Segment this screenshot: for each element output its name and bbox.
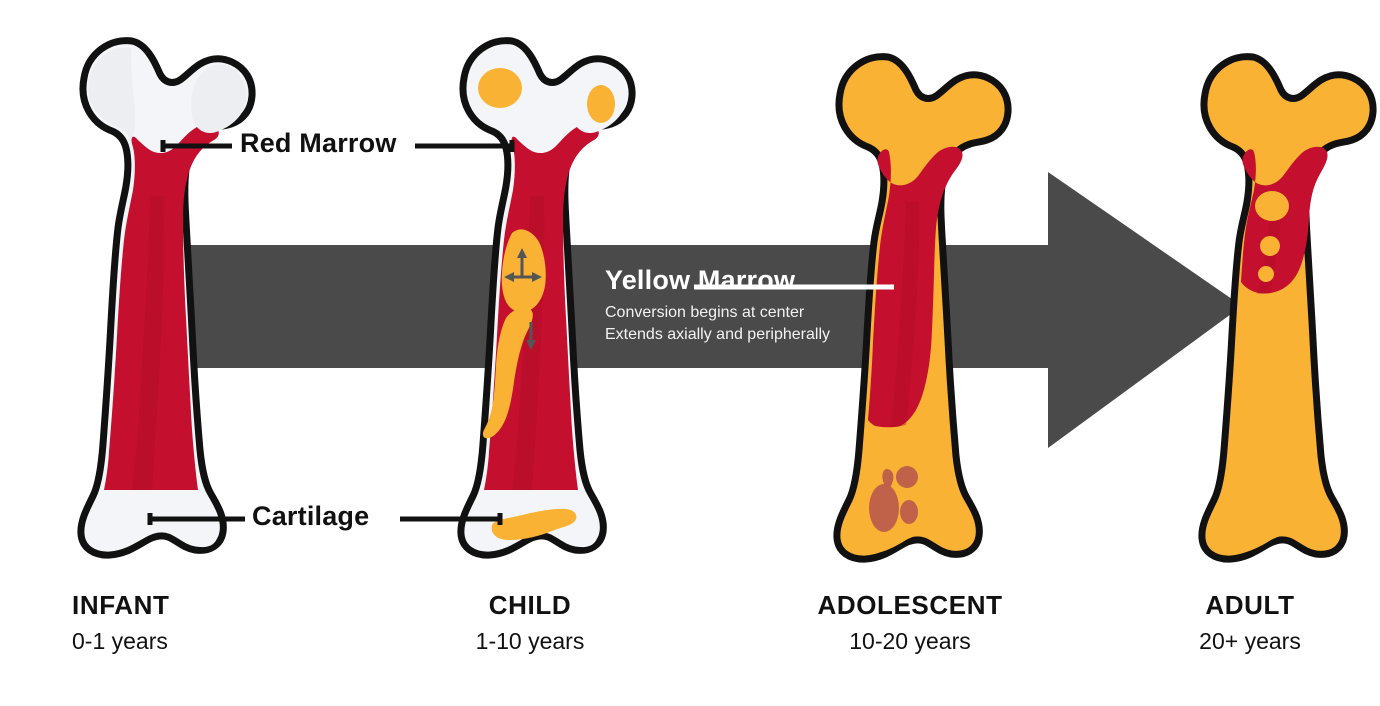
stage-title-adolescent: ADOLESCENT <box>780 589 1040 623</box>
child-ossification-center-trochanter <box>587 85 615 123</box>
stage-years-child: 1-10 years <box>400 627 660 657</box>
red-marrow-label-text: Red Marrow <box>240 128 397 158</box>
adult-yellow-island-mid <box>1260 236 1280 256</box>
adolescent-residual-red-island-large <box>869 484 899 532</box>
label-red-marrow: Red Marrow <box>240 128 397 159</box>
yellow-marrow-sub-line-2: Extends axially and peripherally <box>605 324 935 346</box>
cartilage-label-text: Cartilage <box>252 501 369 531</box>
yellow-marrow-sub-line-1: Conversion begins at center <box>605 302 935 324</box>
yellow-marrow-title: Yellow Marrow <box>605 266 935 296</box>
adult-yellow-island-small <box>1258 266 1274 282</box>
label-cartilage: Cartilage <box>252 501 369 532</box>
stage-years-adult: 20+ years <box>1150 627 1350 657</box>
stage-title-infant: INFANT <box>72 589 332 623</box>
adult-yellow-island-large <box>1255 191 1289 221</box>
stage-label-adolescent: ADOLESCENT 10-20 years <box>780 589 1040 657</box>
leader-red-marrow-right <box>415 140 512 152</box>
stage-label-adult: ADULT 20+ years <box>1150 589 1350 657</box>
adolescent-residual-red-island-small <box>900 500 918 524</box>
adolescent-residual-red-island-mid <box>896 466 918 488</box>
infant-cartilage-distal <box>90 498 218 549</box>
stage-title-child: CHILD <box>400 589 660 623</box>
stage-label-infant: INFANT 0-1 years <box>20 589 332 657</box>
stage-title-adult: ADULT <box>1150 589 1350 623</box>
stage-years-adolescent: 10-20 years <box>780 627 1040 657</box>
stage-years-infant: 0-1 years <box>72 627 332 657</box>
child-ossification-center-head <box>478 68 522 108</box>
stage-label-child: CHILD 1-10 years <box>400 589 660 657</box>
callout-yellow-marrow: Yellow Marrow Conversion begins at cente… <box>605 266 935 346</box>
diagram-canvas: Red Marrow Cartilage Yellow Marrow Conve… <box>0 0 1380 706</box>
